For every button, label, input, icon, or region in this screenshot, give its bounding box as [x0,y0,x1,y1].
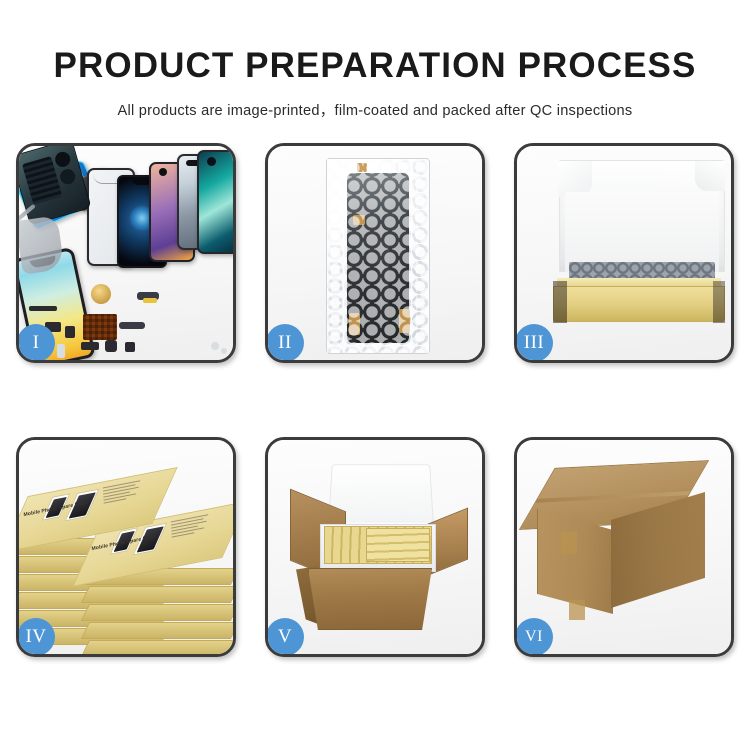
phone-housing-image [19,146,92,225]
page-subtitle: All products are image-printed，film-coat… [0,83,750,120]
stack-box-b-side-4 [81,622,233,639]
process-steps-grid: I II [16,143,734,677]
speaker-part-image [91,284,111,304]
carton-front-image [308,568,432,630]
packing-tape-lower-image [569,600,585,620]
step-1-photo [19,146,233,360]
process-step-panel-6[interactable]: VI [514,437,734,657]
process-step-panel-2[interactable]: II [265,143,485,363]
flex-cable-gold-image [143,298,157,303]
step-badge-5: V [266,618,304,656]
bubble-wrap-bag-image [326,158,430,354]
yellow-boxes-row-2-image [366,528,430,562]
step-4-photo: Mobile Phone Spare Parts Mobile Phone Sp… [19,440,233,654]
small-chip-image [65,326,75,338]
screw-image [211,342,219,350]
part-strip-image [29,306,57,311]
step-6-photo [517,440,731,654]
flex-cable-2-image [119,322,145,329]
button-part-image [81,342,99,350]
step-badge-2: II [266,324,304,362]
screw-2-image [221,348,227,354]
step-3-photo [517,146,731,360]
stack-box-b-side-3 [81,604,233,621]
stack-box-b-side-2 [81,586,233,603]
phone-display-teal-image [197,150,233,254]
product-preparation-process-page: PRODUCT PREPARATION PROCESS All products… [0,0,750,750]
header: PRODUCT PREPARATION PROCESS All products… [0,0,750,120]
sim-tray-image [57,344,65,358]
process-step-panel-3[interactable]: III [514,143,734,363]
kraft-box-front-image [553,286,725,322]
foam-back-panel-image [565,192,719,272]
bubble-texture-overlay [327,159,429,353]
camera-part-image [105,340,117,352]
step-5-photo [268,440,482,654]
step-badge-4: IV [17,618,55,656]
step-badge-6: VI [515,618,553,656]
step-badge-3: III [515,324,553,362]
step-badge-1: I [17,324,55,362]
process-step-panel-4[interactable]: Mobile Phone Spare Parts Mobile Phone Sp… [16,437,236,657]
packing-tape-upper-image [561,532,577,554]
page-title: PRODUCT PREPARATION PROCESS [0,0,750,83]
process-step-panel-1[interactable]: I [16,143,236,363]
process-step-panel-5[interactable]: V [265,437,485,657]
stack-box-b-side-5 [81,640,233,654]
step-2-photo [268,146,482,360]
vibrator-part-image [125,342,135,352]
circuit-board-image [83,314,117,340]
